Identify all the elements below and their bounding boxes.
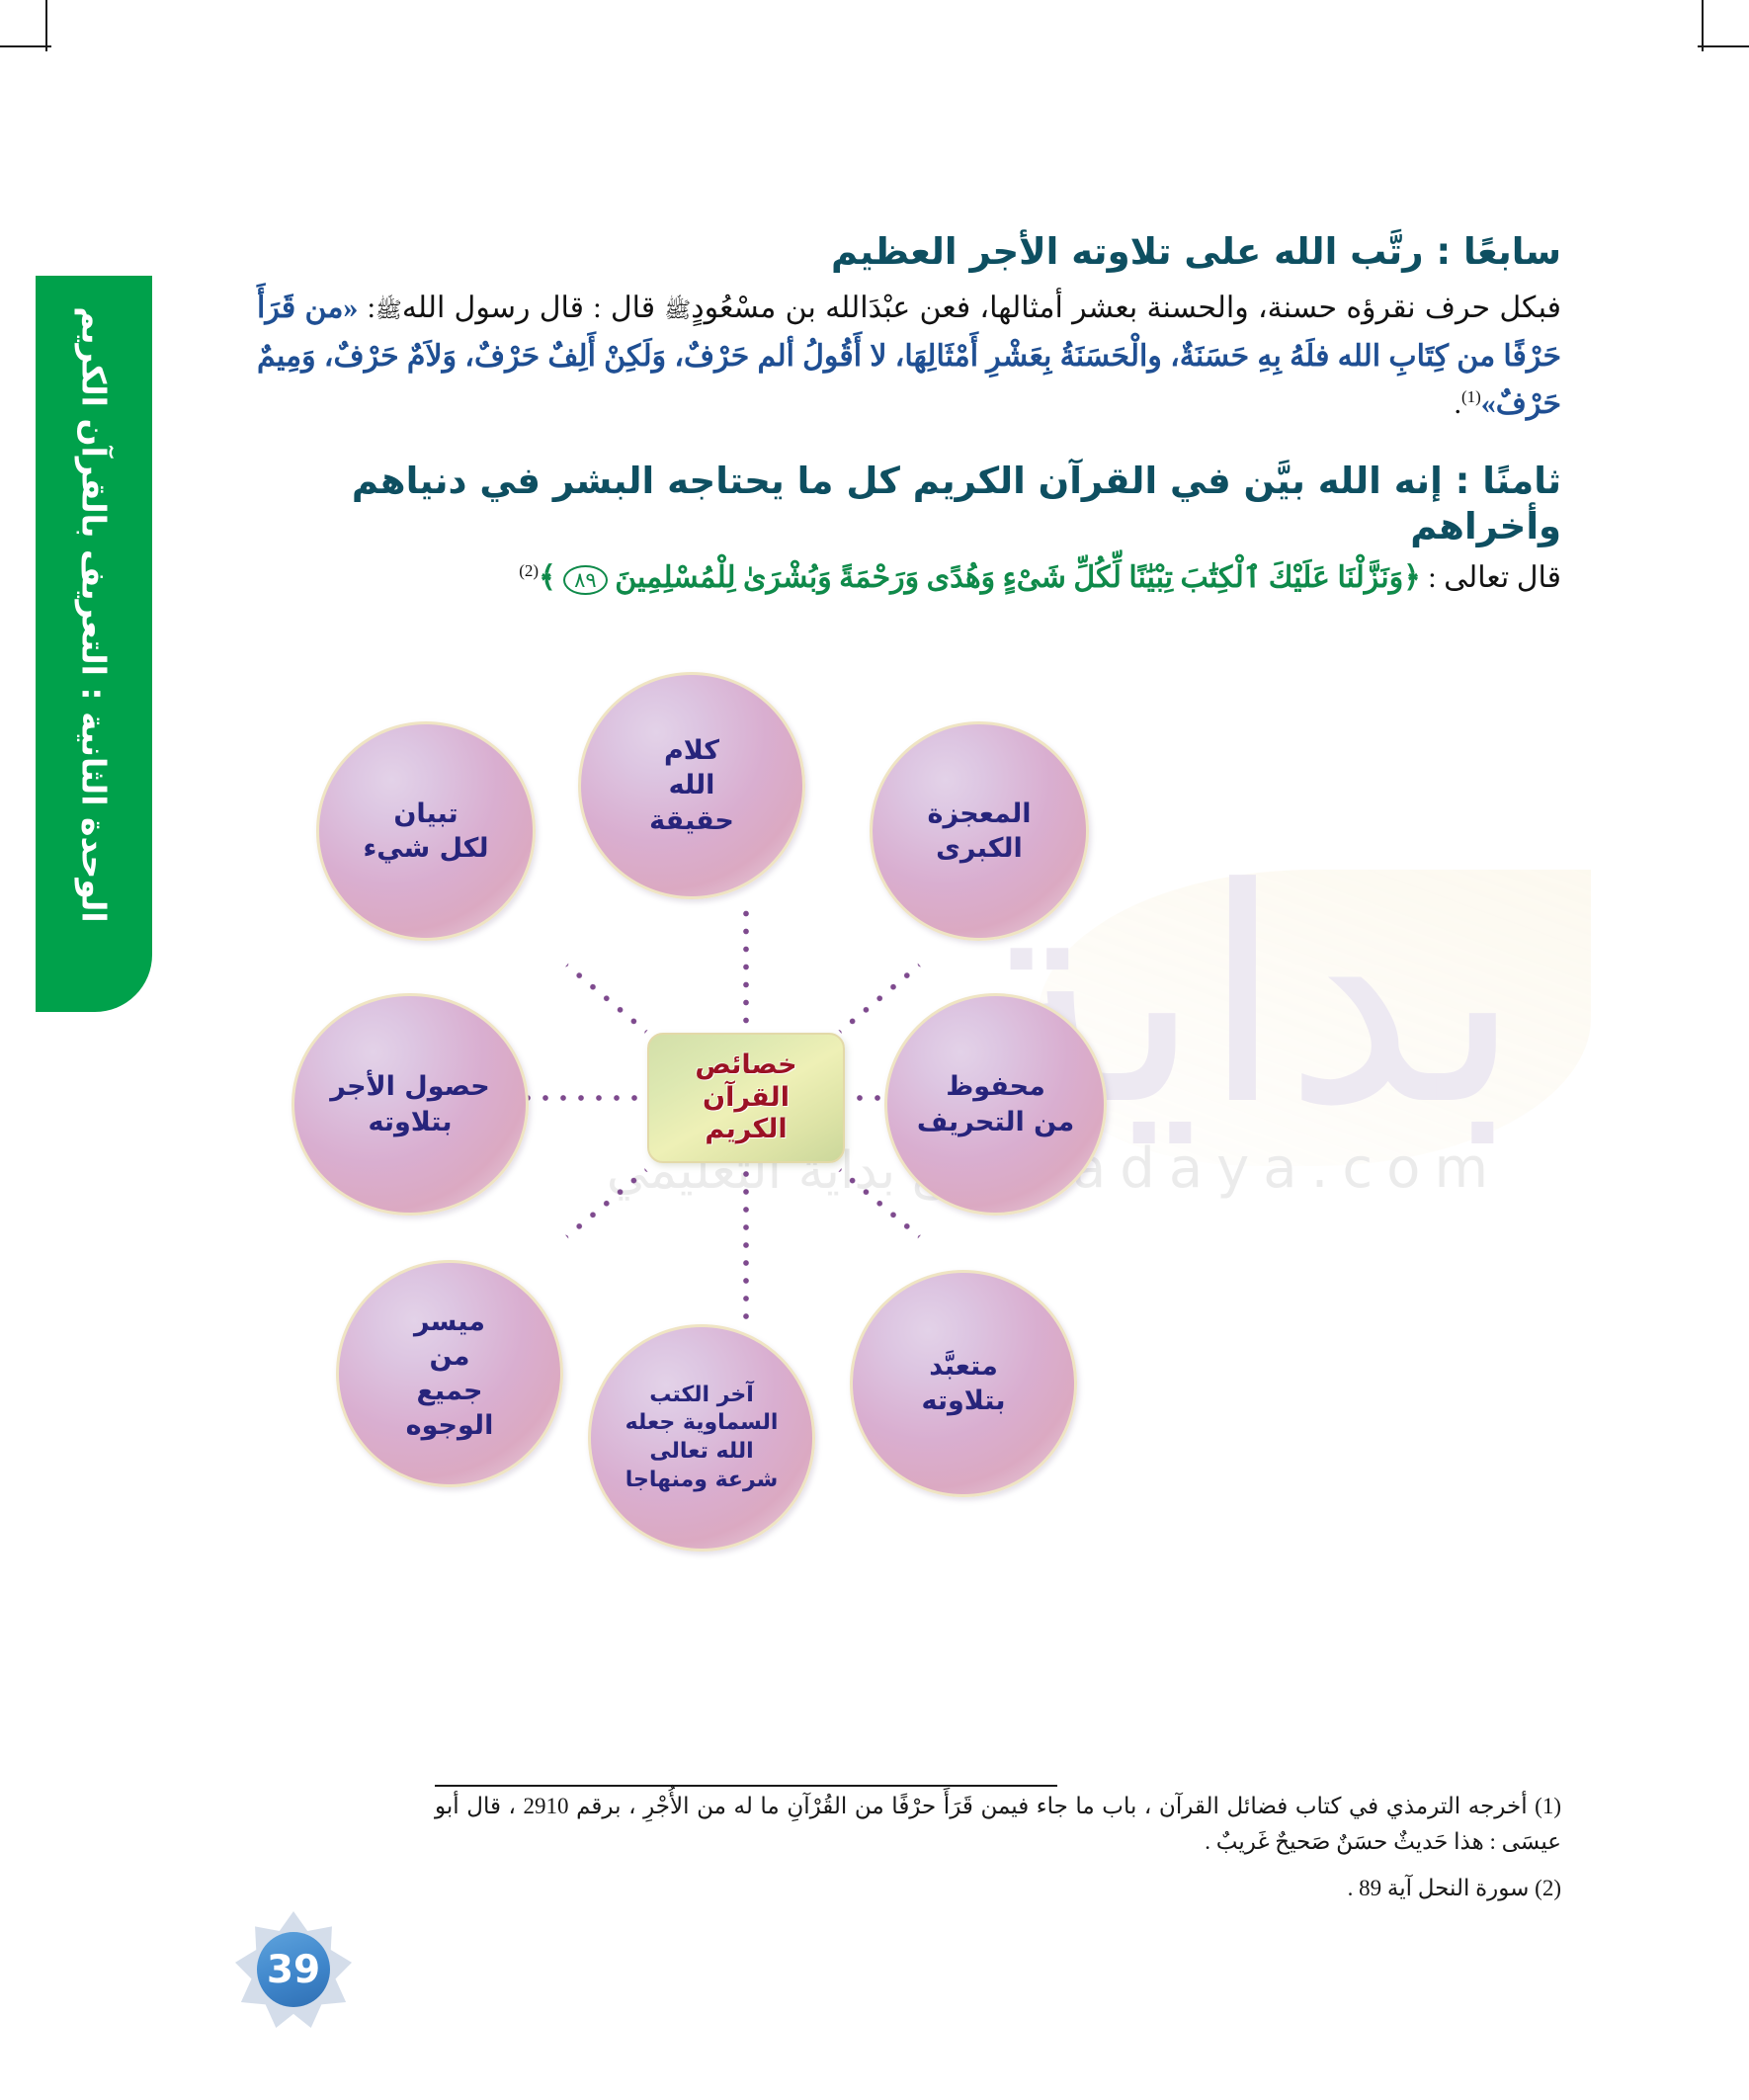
quran-verse: وَنَزَّلْنَا عَلَيْكَ ٱلْكِتَٰبَ تِبْيَٰ…	[615, 561, 1403, 594]
crop-mark-top-right-horizontal	[1698, 45, 1749, 47]
crop-mark-top-left-horizontal	[0, 45, 51, 47]
footnote-ref-2[interactable]: (2)	[519, 561, 539, 580]
paragraph-intro-colon: :	[368, 292, 375, 324]
diagram-node-mahfouz-label: محفوظمن التحريف	[907, 1069, 1084, 1138]
paragraph-intro-cont: قال : قال رسول الله	[402, 292, 655, 324]
connector-center-to-moajiza	[837, 962, 922, 1035]
diagram-node-ajr-label: حصول الأجربتلاوته	[320, 1069, 499, 1138]
diagram-node-easy[interactable]: ميسرمنجميعالوجوه	[336, 1260, 563, 1487]
footnote-separator-rule	[435, 1785, 1057, 1787]
connector-center-to-ajr	[516, 1094, 646, 1102]
diagram-node-kalam-allah[interactable]: كلاماللهحقيقة	[578, 672, 805, 899]
diagram-node-akhir-label: آخر الكتبالسماوية جعلهالله تعالىشرعة ومن…	[616, 1382, 789, 1494]
page-number: 39	[267, 1951, 320, 1989]
paragraph-seventh-intro: فبكل حرف نقرؤه حسنة، والحسنة بعشر أمثاله…	[257, 285, 1561, 429]
quran-characteristics-diagram: كلاماللهحقيقة المعجزةالكبرى تبيانلكل شيء…	[237, 672, 1344, 1561]
diagram-node-greatest-miracle[interactable]: المعجزةالكبرى	[870, 721, 1089, 941]
verse-intro-text: قال تعالى :	[1428, 561, 1561, 594]
hadith-period: .	[1454, 387, 1461, 420]
page-content: سابعًا : رتَّب الله على تلاوته الأجر الع…	[257, 229, 1561, 595]
diagram-node-muyassar-label: ميسرمنجميعالوجوه	[396, 1304, 504, 1443]
verse-number-badge: ٨٩	[563, 565, 608, 595]
connector-center-to-kalam	[742, 905, 750, 1029]
connector-center-to-tibyan	[564, 962, 649, 1035]
paragraph-intro-text: فبكل حرف نقرؤه حسنة، والحسنة بعشر أمثاله…	[691, 292, 1561, 324]
verse-line: قال تعالى : ﴿وَنَزَّلْنَا عَلَيْكَ ٱلْكِ…	[257, 560, 1561, 595]
crop-mark-top-right-vertical	[1702, 0, 1704, 51]
connector-center-to-akhir	[742, 1166, 750, 1324]
unit-side-tab: الوحدة الثانية : التعريف بالقرآن الكريم	[36, 276, 152, 1012]
connector-center-to-mutaabbad	[837, 1167, 922, 1240]
diagram-node-preserved[interactable]: محفوظمن التحريف	[884, 993, 1107, 1216]
footnote-item: (1) أخرجه الترمذي في كتاب فضائل القرآن ،…	[435, 1789, 1561, 1859]
diagram-node-kalam-label: كلاماللهحقيقة	[639, 733, 744, 837]
verse-close-brace-icon: ﴾	[539, 561, 556, 594]
diagram-node-mutaabbad-label: متعبَّدبتلاوته	[912, 1349, 1016, 1418]
section-heading-seventh: سابعًا : رتَّب الله على تلاوته الأجر الع…	[257, 229, 1561, 275]
footnotes-block: (1) أخرجه الترمذي في كتاب فضائل القرآن ،…	[435, 1789, 1561, 1906]
diagram-center-node[interactable]: خصائصالقرآنالكريم	[647, 1033, 845, 1163]
page-number-badge: 39	[235, 1911, 352, 2028]
diagram-node-tibyan-label: تبيانلكل شيء	[354, 797, 499, 866]
footnote-ref-1[interactable]: (1)	[1461, 387, 1481, 406]
crop-mark-top-left-vertical	[45, 0, 47, 51]
badge-disc: 39	[257, 1932, 330, 2007]
diagram-node-moajiza-label: المعجزةالكبرى	[918, 797, 1041, 866]
honorific-radiallahu-icon: ﷺ	[664, 297, 691, 322]
unit-tab-label: الوحدة الثانية : التعريف بالقرآن الكريم	[75, 306, 114, 922]
footnote-item: (2) سورة النحل آية 89 .	[435, 1871, 1561, 1906]
honorific-sallallahu-icon: ﷺ	[375, 297, 402, 322]
diagram-node-reward[interactable]: حصول الأجربتلاوته	[291, 993, 529, 1216]
section-heading-eighth: ثامنًا : إنه الله بيَّن في القرآن الكريم…	[257, 459, 1561, 550]
verse-open-brace-icon: ﴿	[1403, 561, 1421, 594]
connector-center-to-muyassar	[564, 1167, 649, 1240]
diagram-node-last-scripture[interactable]: آخر الكتبالسماوية جعلهالله تعالىشرعة ومن…	[588, 1324, 815, 1552]
diagram-node-clarification[interactable]: تبيانلكل شيء	[316, 721, 536, 941]
diagram-center-label: خصائصالقرآنالكريم	[695, 1050, 796, 1147]
diagram-node-worship-recitation[interactable]: متعبَّدبتلاوته	[850, 1270, 1077, 1497]
